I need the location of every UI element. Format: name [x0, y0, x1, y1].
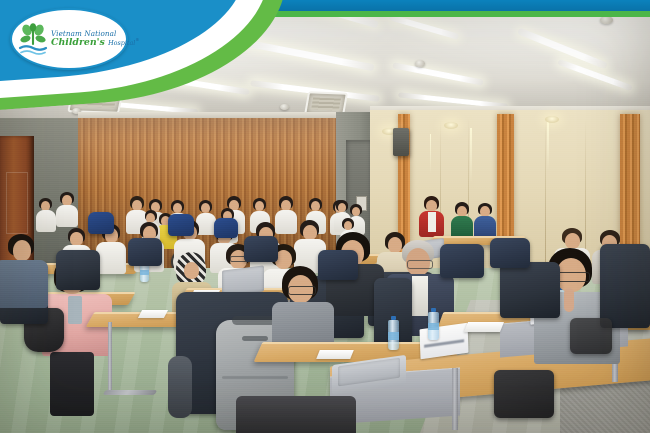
ceiling-ac-vent — [128, 35, 205, 77]
chair-armrest — [168, 356, 192, 418]
recessed-downlight — [545, 116, 559, 123]
chair-row — [56, 250, 100, 290]
chair-right-foreground — [600, 244, 650, 328]
chair-row — [128, 238, 162, 266]
smoke-detector-icon — [600, 16, 613, 24]
foreground-shadow-object — [236, 396, 356, 433]
water-bottle — [428, 312, 439, 340]
wall-panel-seam — [545, 118, 546, 278]
bag-under-desk — [494, 370, 554, 418]
smoke-detector-icon — [415, 60, 425, 67]
desk-leg — [452, 368, 458, 430]
wall-light-streak — [547, 122, 549, 170]
conference-hall-photo: Vietnam National Children's Hospital® — [0, 0, 650, 433]
chair-row — [440, 244, 484, 278]
papers — [316, 350, 354, 359]
desk-foot — [103, 390, 158, 395]
papers — [138, 310, 168, 318]
smoke-detector-icon — [280, 104, 289, 110]
chair-blue-back — [88, 212, 114, 234]
chair-blue-back — [168, 214, 194, 236]
chair-blue-back — [214, 218, 238, 238]
chair-row — [490, 238, 530, 268]
chair-row — [244, 236, 278, 262]
bag-under-desk — [570, 318, 612, 354]
water-bottle — [388, 320, 399, 350]
photo-scene — [0, 0, 650, 433]
desk-leg — [108, 322, 112, 394]
chair-row — [500, 262, 560, 318]
wall-light-streak — [430, 134, 431, 174]
chair-row — [318, 250, 358, 280]
recessed-downlight — [444, 122, 458, 129]
wall-speaker — [393, 128, 409, 156]
wall-light-streak — [470, 128, 472, 183]
papers — [464, 322, 504, 332]
